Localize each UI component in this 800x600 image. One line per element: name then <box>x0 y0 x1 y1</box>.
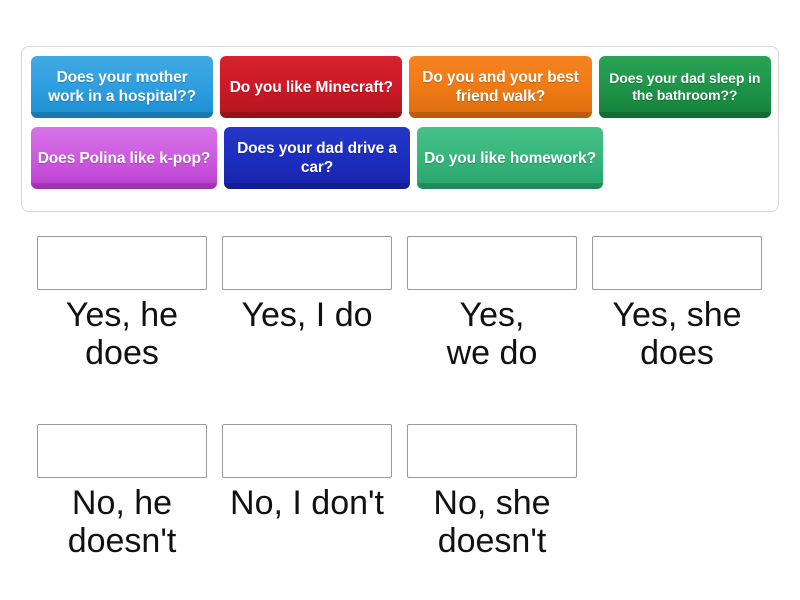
answers-area: Yes, he does Yes, I do Yes, we do Yes, s… <box>37 236 763 560</box>
drop-zone-no-i-dont[interactable] <box>222 424 392 478</box>
answer-label-yes-i-do: Yes, I do <box>241 296 372 334</box>
question-tile-label: Do you like Minecraft? <box>230 78 393 97</box>
answer-cell-yes-she-does: Yes, she does <box>592 236 762 372</box>
answer-cell-yes-he-does: Yes, he does <box>37 236 207 372</box>
answer-cell-yes-i-do: Yes, I do <box>222 236 392 372</box>
question-tile-mother-hospital[interactable]: Does your mother work in a hospital?? <box>31 56 213 118</box>
question-tile-label: Does your dad sleep in the bathroom?? <box>605 70 765 104</box>
answer-label-no-she-doesnt: No, she doesn't <box>433 484 550 560</box>
question-tiles-panel: Does your mother work in a hospital?? Do… <box>21 46 779 212</box>
question-tile-row-1: Does your mother work in a hospital?? Do… <box>31 56 778 118</box>
question-tile-best-friend-walk[interactable]: Do you and your best friend walk? <box>409 56 591 118</box>
question-tile-homework[interactable]: Do you like homework? <box>417 127 603 189</box>
question-tile-label: Does your mother work in a hospital?? <box>37 68 207 106</box>
answer-cell-yes-we-do: Yes, we do <box>407 236 577 372</box>
question-tile-label: Does your dad drive a car? <box>230 139 404 177</box>
question-tile-label: Does Polina like k-pop? <box>38 149 211 168</box>
question-tile-minecraft[interactable]: Do you like Minecraft? <box>220 56 402 118</box>
answer-row-2: No, he doesn't No, I don't No, she doesn… <box>37 424 763 560</box>
drop-zone-yes-we-do[interactable] <box>407 236 577 290</box>
question-tile-dad-drive-car[interactable]: Does your dad drive a car? <box>224 127 410 189</box>
drop-zone-no-she-doesnt[interactable] <box>407 424 577 478</box>
drop-zone-no-he-doesnt[interactable] <box>37 424 207 478</box>
answer-label-yes-she-does: Yes, she does <box>612 296 741 372</box>
drop-zone-yes-he-does[interactable] <box>37 236 207 290</box>
drop-zone-yes-i-do[interactable] <box>222 236 392 290</box>
answer-label-yes-he-does: Yes, he does <box>66 296 178 372</box>
question-tile-dad-bathroom[interactable]: Does your dad sleep in the bathroom?? <box>599 56 771 118</box>
answer-label-no-he-doesnt: No, he doesn't <box>68 484 177 560</box>
answer-cell-no-i-dont: No, I don't <box>222 424 392 560</box>
drop-zone-yes-she-does[interactable] <box>592 236 762 290</box>
question-tile-polina-kpop[interactable]: Does Polina like k-pop? <box>31 127 217 189</box>
answer-cell-no-she-doesnt: No, she doesn't <box>407 424 577 560</box>
question-tile-label: Do you like homework? <box>424 149 596 168</box>
question-tile-label: Do you and your best friend walk? <box>415 68 585 106</box>
answer-row-1: Yes, he does Yes, I do Yes, we do Yes, s… <box>37 236 763 372</box>
answer-label-yes-we-do: Yes, we do <box>447 296 538 372</box>
answer-label-no-i-dont: No, I don't <box>230 484 384 522</box>
question-tile-row-2: Does Polina like k-pop? Does your dad dr… <box>31 127 778 189</box>
answer-cell-no-he-doesnt: No, he doesn't <box>37 424 207 560</box>
